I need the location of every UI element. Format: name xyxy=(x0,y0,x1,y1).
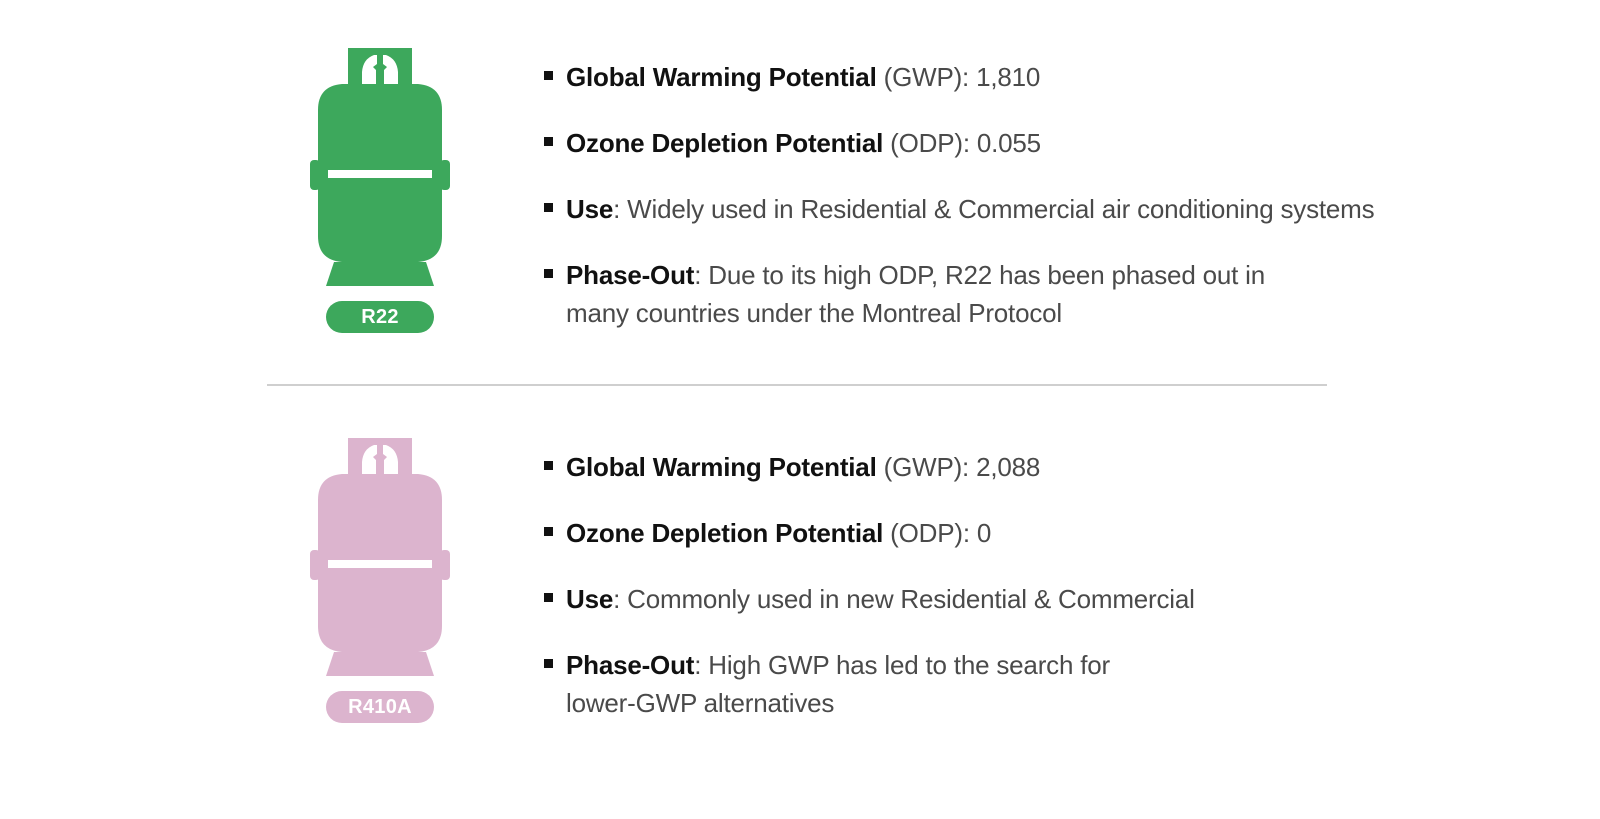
fact-value: : Widely used in Residential & Commercia… xyxy=(613,194,1374,224)
cylinder-column-r22: R22 xyxy=(230,48,530,333)
fact-label: Ozone Depletion Potential xyxy=(566,128,883,158)
gas-cylinder-icon xyxy=(300,438,460,683)
section-divider xyxy=(267,384,1327,386)
refrigerant-card-r22: R22 Global Warming Potential (GWP): 1,81… xyxy=(0,48,1600,333)
fact-row: Ozone Depletion Potential (ODP): 0.055 xyxy=(544,124,1600,162)
fact-row: Use: Commonly used in new Residential & … xyxy=(544,580,1600,618)
refrigerant-comparison-page: R22 Global Warming Potential (GWP): 1,81… xyxy=(0,0,1600,819)
fact-value: (GWP): 1,810 xyxy=(877,62,1041,92)
square-bullet-icon xyxy=(544,659,553,668)
fact-label: Global Warming Potential xyxy=(566,62,877,92)
fact-text: Ozone Depletion Potential (ODP): 0 xyxy=(566,514,991,552)
square-bullet-icon xyxy=(544,461,553,470)
square-bullet-icon xyxy=(544,203,553,212)
badge-r22: R22 xyxy=(326,301,434,333)
fact-row: Phase-Out: High GWP has led to the searc… xyxy=(544,646,1600,722)
fact-row: Global Warming Potential (GWP): 2,088 xyxy=(544,448,1600,486)
fact-label: Use xyxy=(566,194,613,224)
fact-label: Phase-Out xyxy=(566,260,694,290)
fact-label: Global Warming Potential xyxy=(566,452,877,482)
fact-value: (GWP): 2,088 xyxy=(877,452,1041,482)
fact-row: Phase-Out: Due to its high ODP, R22 has … xyxy=(544,256,1600,332)
fact-value: : Commonly used in new Residential & Com… xyxy=(613,584,1195,614)
square-bullet-icon xyxy=(544,593,553,602)
fact-row: Global Warming Potential (GWP): 1,810 xyxy=(544,58,1600,96)
gas-cylinder-icon xyxy=(300,48,460,293)
fact-text: Global Warming Potential (GWP): 1,810 xyxy=(566,58,1040,96)
fact-label: Phase-Out xyxy=(566,650,694,680)
fact-value: (ODP): 0.055 xyxy=(883,128,1041,158)
fact-label: Use xyxy=(566,584,613,614)
fact-text: Phase-Out: Due to its high ODP, R22 has … xyxy=(566,256,1266,332)
fact-value: (ODP): 0 xyxy=(883,518,991,548)
fact-label: Ozone Depletion Potential xyxy=(566,518,883,548)
fact-text: Use: Widely used in Residential & Commer… xyxy=(566,190,1374,228)
fact-row: Ozone Depletion Potential (ODP): 0 xyxy=(544,514,1600,552)
square-bullet-icon xyxy=(544,269,553,278)
fact-text: Phase-Out: High GWP has led to the searc… xyxy=(566,646,1126,722)
badge-r410a: R410A xyxy=(326,691,434,723)
cylinder-column-r410a: R410A xyxy=(230,438,530,723)
square-bullet-icon xyxy=(544,137,553,146)
square-bullet-icon xyxy=(544,527,553,536)
facts-list-r22: Global Warming Potential (GWP): 1,810 Oz… xyxy=(544,58,1600,332)
refrigerant-card-r410a: R410A Global Warming Potential (GWP): 2,… xyxy=(0,438,1600,723)
fact-text: Use: Commonly used in new Residential & … xyxy=(566,580,1195,618)
square-bullet-icon xyxy=(544,71,553,80)
fact-text: Global Warming Potential (GWP): 2,088 xyxy=(566,448,1040,486)
fact-row: Use: Widely used in Residential & Commer… xyxy=(544,190,1600,228)
facts-list-r410a: Global Warming Potential (GWP): 2,088 Oz… xyxy=(544,448,1600,722)
fact-text: Ozone Depletion Potential (ODP): 0.055 xyxy=(566,124,1041,162)
